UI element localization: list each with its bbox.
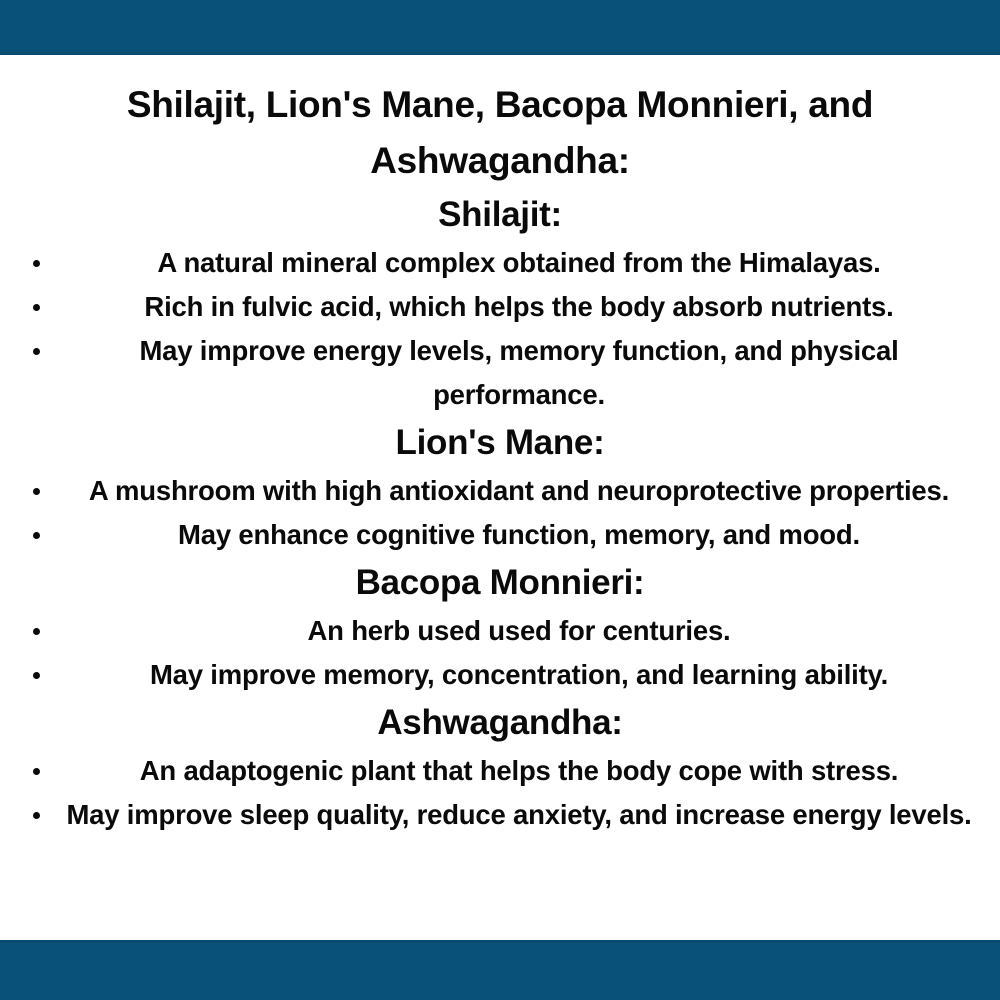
list-item: A natural mineral complex obtained from … bbox=[0, 241, 1000, 285]
bullet-dot-icon bbox=[33, 812, 40, 819]
section-lions-mane: Lion's Mane: A mushroom with high antiox… bbox=[0, 417, 1000, 557]
list-item: May improve memory, concentration, and l… bbox=[0, 653, 1000, 697]
list-item-text: A natural mineral complex obtained from … bbox=[66, 241, 972, 285]
bullet-list: A mushroom with high antioxidant and neu… bbox=[0, 469, 1000, 557]
list-item-text: May enhance cognitive function, memory, … bbox=[66, 513, 972, 557]
section-bacopa-monnieri: Bacopa Monnieri: An herb used used for c… bbox=[0, 557, 1000, 697]
list-item: May enhance cognitive function, memory, … bbox=[0, 513, 1000, 557]
section-heading: Ashwagandha: bbox=[0, 697, 1000, 749]
list-item-text: Rich in fulvic acid, which helps the bod… bbox=[66, 285, 972, 329]
bullet-dot-icon bbox=[33, 768, 40, 775]
bullet-dot-icon bbox=[33, 628, 40, 635]
bullet-list: An adaptogenic plant that helps the body… bbox=[0, 749, 1000, 837]
slide-content: Shilajit, Lion's Mane, Bacopa Monnieri, … bbox=[0, 55, 1000, 940]
bullet-list: An herb used used for centuries. May imp… bbox=[0, 609, 1000, 697]
list-item: May improve energy levels, memory functi… bbox=[0, 329, 1000, 417]
list-item-text: May improve energy levels, memory functi… bbox=[66, 329, 972, 417]
list-item: An adaptogenic plant that helps the body… bbox=[0, 749, 1000, 793]
bullet-dot-icon bbox=[33, 672, 40, 679]
bullet-dot-icon bbox=[33, 348, 40, 355]
list-item: Rich in fulvic acid, which helps the bod… bbox=[0, 285, 1000, 329]
section-ashwagandha: Ashwagandha: An adaptogenic plant that h… bbox=[0, 697, 1000, 837]
section-heading: Lion's Mane: bbox=[0, 417, 1000, 469]
bottom-accent-band bbox=[0, 940, 1000, 1000]
list-item-text: A mushroom with high antioxidant and neu… bbox=[66, 469, 972, 513]
section-shilajit: Shilajit: A natural mineral complex obta… bbox=[0, 189, 1000, 417]
section-heading: Bacopa Monnieri: bbox=[0, 557, 1000, 609]
top-accent-band bbox=[0, 0, 1000, 55]
bullet-dot-icon bbox=[33, 488, 40, 495]
bullet-dot-icon bbox=[33, 260, 40, 267]
bullet-dot-icon bbox=[33, 532, 40, 539]
bullet-list: A natural mineral complex obtained from … bbox=[0, 241, 1000, 417]
list-item: An herb used used for centuries. bbox=[0, 609, 1000, 653]
slide: Shilajit, Lion's Mane, Bacopa Monnieri, … bbox=[0, 0, 1000, 1000]
list-item-text: An herb used used for centuries. bbox=[66, 609, 972, 653]
list-item-text: May improve memory, concentration, and l… bbox=[66, 653, 972, 697]
list-item-text: An adaptogenic plant that helps the body… bbox=[66, 749, 972, 793]
bullet-dot-icon bbox=[33, 304, 40, 311]
list-item: May improve sleep quality, reduce anxiet… bbox=[0, 793, 1000, 837]
list-item-text: May improve sleep quality, reduce anxiet… bbox=[66, 793, 972, 837]
slide-title: Shilajit, Lion's Mane, Bacopa Monnieri, … bbox=[46, 77, 954, 189]
section-heading: Shilajit: bbox=[0, 189, 1000, 241]
list-item: A mushroom with high antioxidant and neu… bbox=[0, 469, 1000, 513]
